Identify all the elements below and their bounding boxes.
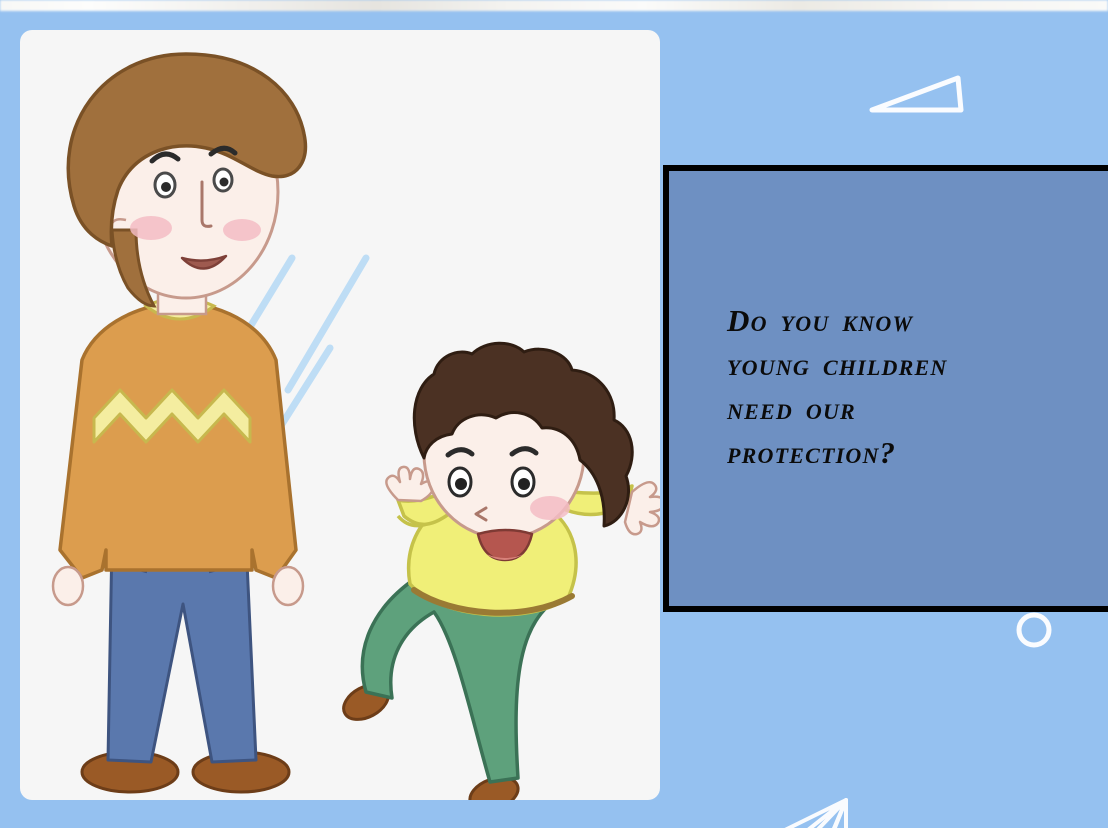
slide-canvas: Do you know young children need our prot… xyxy=(0,0,1108,828)
adult-right-pupil xyxy=(220,178,229,187)
illustration-artwork xyxy=(20,30,660,800)
adult-left-pupil xyxy=(161,182,171,192)
callout-message: Do you know young children need our prot… xyxy=(727,299,1057,475)
illustration-card xyxy=(20,30,660,800)
child-right-pupil xyxy=(518,478,530,490)
adult-left-hand xyxy=(53,567,83,605)
adult-right-cheek xyxy=(223,219,261,241)
blurred-edge-strip xyxy=(0,0,1108,11)
child-figure xyxy=(338,343,660,800)
adult-left-cheek xyxy=(130,216,172,240)
callout-text-box: Do you know young children need our prot… xyxy=(663,165,1108,612)
circle-outline-icon xyxy=(1012,608,1056,652)
child-right-cheek xyxy=(530,496,570,520)
paper-plane-outline-icon xyxy=(718,782,918,828)
triangle-outline-icon xyxy=(862,70,972,125)
child-left-pupil xyxy=(455,478,467,490)
adult-right-hand xyxy=(273,567,303,605)
adult-figure xyxy=(53,54,305,792)
adult-trousers xyxy=(108,540,256,762)
